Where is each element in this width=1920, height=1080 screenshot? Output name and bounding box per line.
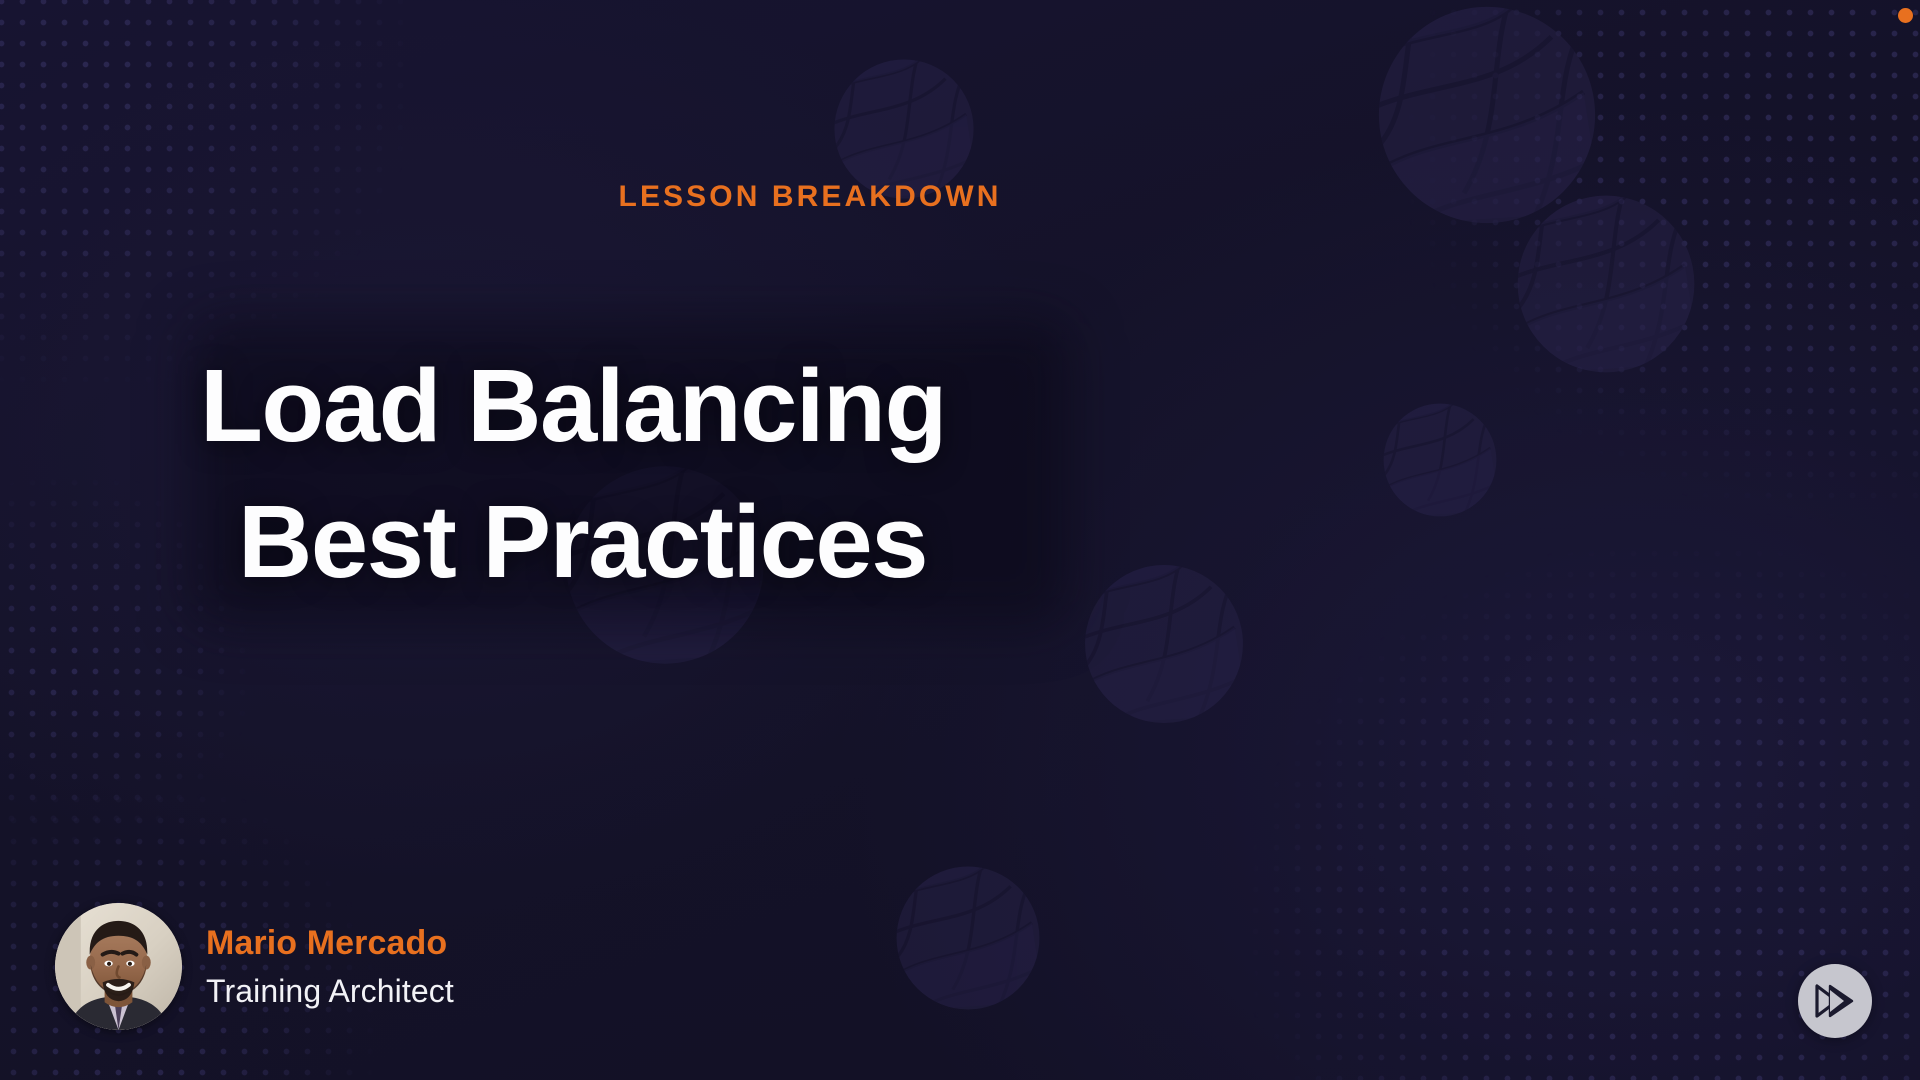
presenter-details: Mario Mercado Training Architect bbox=[206, 924, 454, 1010]
presenter-name: Mario Mercado bbox=[206, 924, 454, 963]
eyebrow-label: LESSON BREAKDOWN bbox=[0, 180, 1770, 214]
brand-badge[interactable] bbox=[1798, 964, 1872, 1038]
avatar bbox=[55, 903, 182, 1030]
page-title-line-2: Best Practices bbox=[200, 474, 1160, 610]
presenter-block: Mario Mercado Training Architect bbox=[55, 903, 454, 1030]
page-title-line-1: Load Balancing bbox=[200, 338, 1160, 474]
page-title: Load Balancing Best Practices bbox=[200, 338, 1160, 610]
slide-canvas: LESSON BREAKDOWN Load Balancing Best Pra… bbox=[0, 0, 1920, 1080]
presenter-role: Training Architect bbox=[206, 973, 454, 1010]
double-play-logo-icon bbox=[1814, 984, 1856, 1018]
accent-dot bbox=[1898, 8, 1913, 23]
